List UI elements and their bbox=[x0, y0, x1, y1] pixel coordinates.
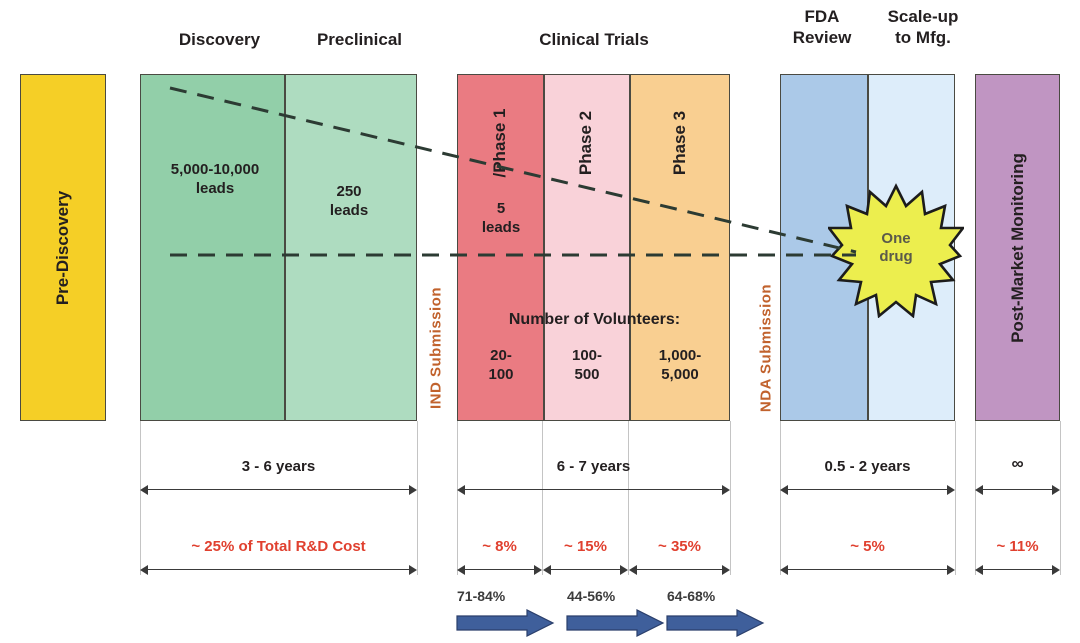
success-rate-phase2-to-phase3: 44-56% bbox=[565, 588, 665, 640]
stage-header-discovery: Discovery bbox=[152, 30, 287, 51]
divider-discovery-preclinical bbox=[284, 75, 286, 420]
duration-arrow-post-market bbox=[975, 484, 1060, 495]
stage-box-discovery-preclinical: 5,000-10,000 leads 250 leads bbox=[140, 74, 417, 421]
stage-label-phase2: Phase 2 bbox=[576, 111, 596, 175]
duration-arrow-clinical-trials bbox=[457, 484, 730, 495]
duration-label-post-market: ∞ bbox=[975, 454, 1060, 474]
stage-label-phase3: Phase 3 bbox=[670, 111, 690, 175]
duration-arrow-discovery-preclinical bbox=[140, 484, 417, 495]
stage-value-phase1-leads: 5 leads bbox=[460, 200, 542, 238]
drug-development-pipeline-diagram: Discovery Preclinical Clinical Trials FD… bbox=[0, 0, 1080, 643]
success-rate-label-phase2-to-phase3: 44-56% bbox=[567, 588, 615, 604]
volunteers-phase3: 1,000- 5,000 bbox=[632, 347, 728, 385]
cost-label-fda-scaleup: ~ 5% bbox=[780, 538, 955, 555]
cost-label-phase1: ~ 8% bbox=[457, 538, 542, 555]
volunteers-phase2: 100- 500 bbox=[546, 347, 628, 385]
cost-label-post-market: ~ 11% bbox=[975, 538, 1060, 555]
cost-arrow-phase2 bbox=[543, 564, 628, 575]
divider-phase1-phase2 bbox=[543, 75, 545, 420]
cost-arrow-discovery-preclinical bbox=[140, 564, 417, 575]
cost-label-phase3: ~ 35% bbox=[629, 538, 730, 555]
stage-fill-discovery bbox=[141, 75, 284, 420]
volunteers-heading: Number of Volunteers: bbox=[458, 310, 731, 330]
submission-label-nda: NDA Submission bbox=[758, 284, 775, 412]
stage-box-pre-discovery: Pre-Discovery bbox=[20, 74, 106, 421]
cost-label-discovery-preclinical: ~ 25% of Total R&D Cost bbox=[140, 538, 417, 555]
stage-header-clinical-trials: Clinical Trials bbox=[466, 30, 722, 51]
cost-arrow-phase3 bbox=[629, 564, 730, 575]
success-rate-label-phase1-to-phase2: 71-84% bbox=[457, 588, 505, 604]
submission-label-ind: IND Submission bbox=[428, 287, 445, 409]
stage-box-clinical-trials: /Phase 1 Phase 2 Phase 3 5 leads Number … bbox=[457, 74, 730, 421]
duration-label-clinical-trials: 6 - 7 years bbox=[457, 458, 730, 475]
divider-phase2-phase3 bbox=[629, 75, 631, 420]
stage-box-post-market: Post-Market Monitoring bbox=[975, 74, 1060, 421]
cost-label-phase2: ~ 15% bbox=[543, 538, 628, 555]
volunteers-phase1: 20- 100 bbox=[460, 347, 542, 385]
stage-header-scale-up: Scale-up to Mfg. bbox=[868, 7, 978, 48]
cost-arrow-post-market bbox=[975, 564, 1060, 575]
cost-arrow-fda-scaleup bbox=[780, 564, 955, 575]
stage-value-preclinical: 250 leads bbox=[289, 183, 409, 221]
success-rate-phase3-to-nda: 64-68% bbox=[665, 588, 765, 640]
duration-arrow-fda-scaleup bbox=[780, 484, 955, 495]
stage-header-preclinical: Preclinical bbox=[292, 30, 427, 51]
stage-label-pre-discovery: Pre-Discovery bbox=[53, 190, 73, 304]
one-drug-burst: One drug bbox=[828, 182, 964, 318]
stage-header-fda-review: FDA Review bbox=[776, 7, 868, 48]
stage-label-phase1: /Phase 1 bbox=[490, 109, 510, 178]
cost-arrow-phase1 bbox=[457, 564, 542, 575]
success-rate-label-phase3-to-nda: 64-68% bbox=[667, 588, 715, 604]
stage-value-discovery: 5,000-10,000 leads bbox=[151, 161, 279, 199]
stage-label-post-market: Post-Market Monitoring bbox=[1008, 153, 1028, 343]
success-rate-phase1-to-phase2: 71-84% bbox=[455, 588, 555, 640]
duration-label-fda-scaleup: 0.5 - 2 years bbox=[780, 458, 955, 475]
duration-label-discovery-preclinical: 3 - 6 years bbox=[140, 458, 417, 475]
